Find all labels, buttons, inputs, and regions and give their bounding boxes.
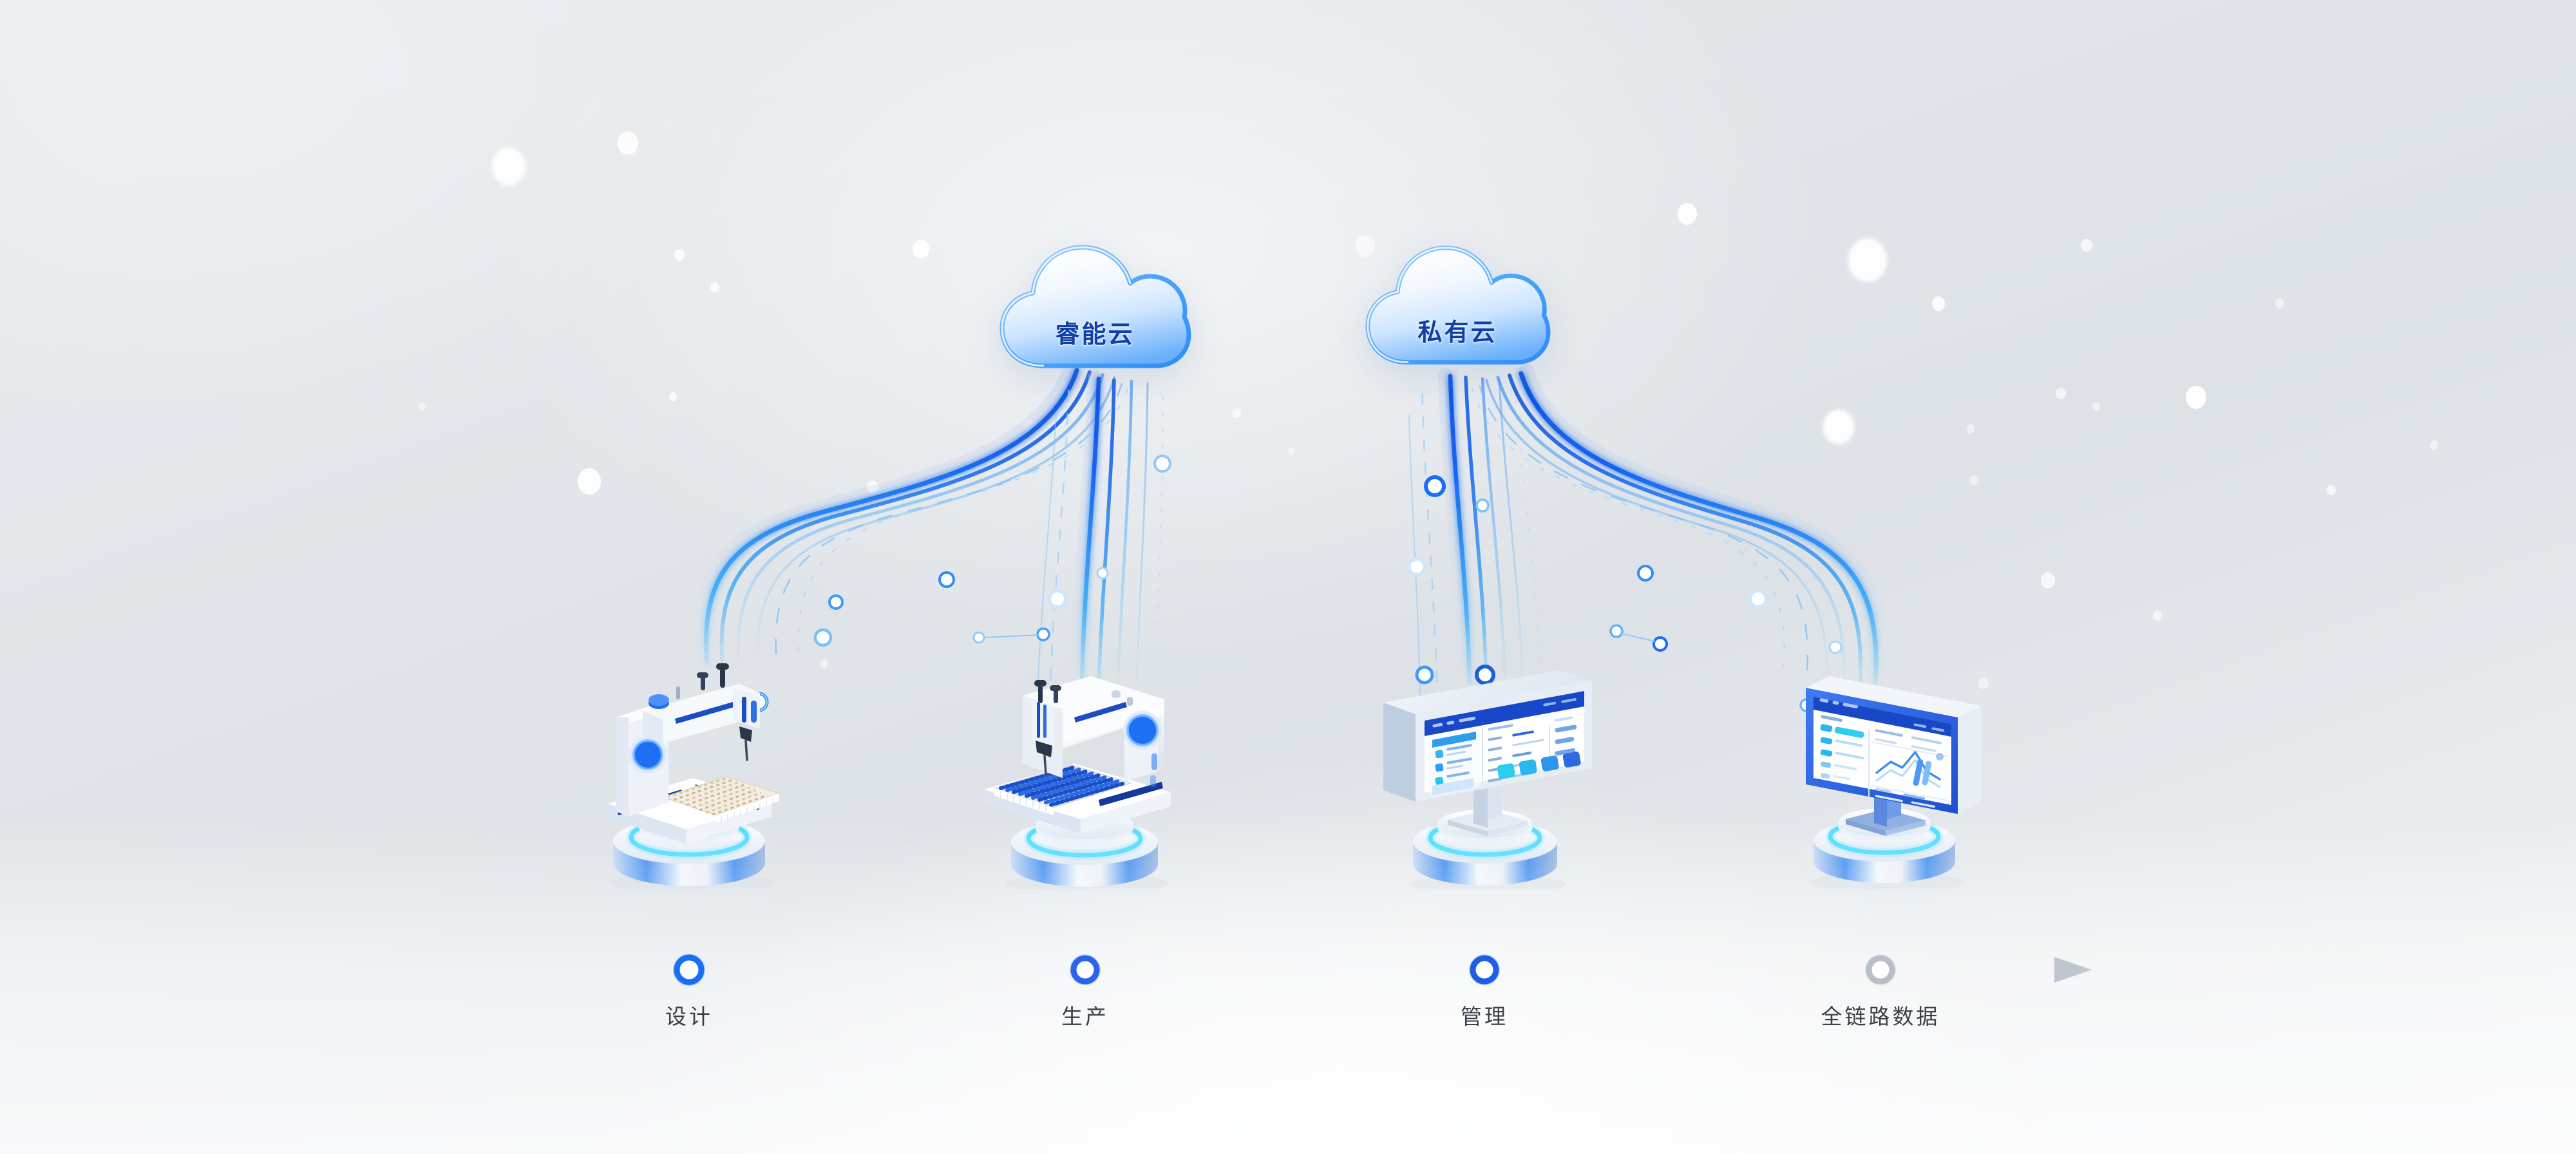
timeline-label-management[interactable]: 管理 [1461,999,1508,1030]
illustration-stage: 睿能云 私有云 [0,0,2576,1154]
process-timeline [0,0,2576,1154]
timeline-label-production[interactable]: 生产 [1061,999,1109,1030]
timeline-label-design[interactable]: 设计 [665,999,713,1030]
timeline-label-fullchain[interactable]: 全链路数据 [1821,999,1940,1030]
